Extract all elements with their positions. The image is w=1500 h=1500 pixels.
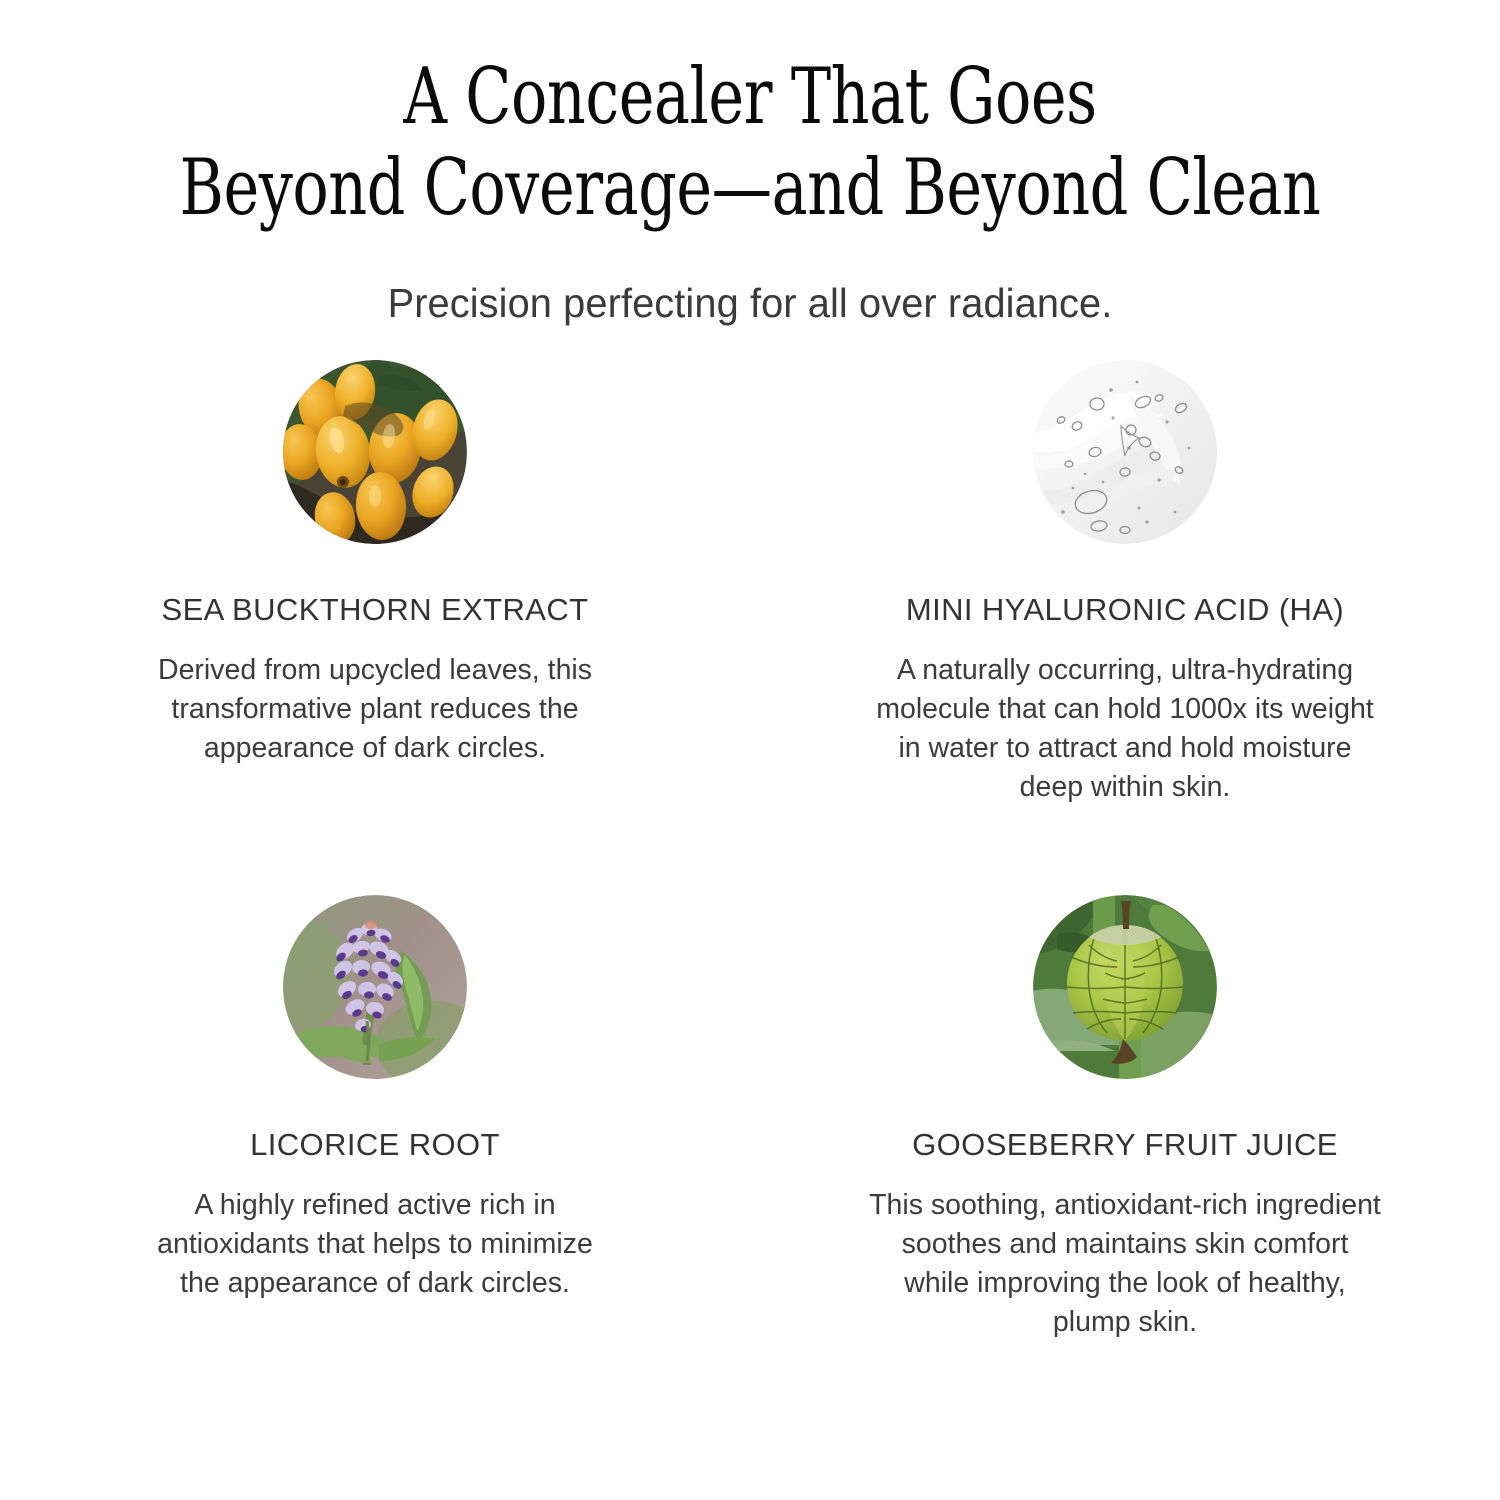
gooseberry-fruit-image [1033,895,1217,1079]
ingredient-grid: SEA BUCKTHORN EXTRACT Derived from upcyc… [0,360,1500,1430]
header: A Concealer That Goes Beyond Coverage—an… [0,0,1500,328]
licorice-root-image [283,895,467,1079]
hyaluronic-acid-gel-image [1033,360,1217,544]
ingredient-title: MINI HYALURONIC ACID (HA) [906,593,1344,627]
page-subtitle: Precision perfecting for all over radian… [23,279,1478,328]
page-title-line-1: A Concealer That Goes [148,52,1352,143]
ingredient-description: A highly refined active rich in antioxid… [157,1186,593,1303]
page-title-line-2: Beyond Coverage—and Beyond Clean [148,143,1352,234]
ingredient-title: LICORICE ROOT [250,1128,500,1162]
ingredient-card-licorice-root: LICORICE ROOT A highly refined active ri… [0,895,750,1430]
ingredient-description: A naturally occurring, ultra-hydrating m… [876,651,1373,807]
ingredient-benefits-infographic: A Concealer That Goes Beyond Coverage—an… [0,0,1500,1500]
sea-buckthorn-image [283,360,467,544]
ingredient-card-gooseberry-fruit-juice: GOOSEBERRY FRUIT JUICE This soothing, an… [750,895,1500,1430]
page-title: A Concealer That Goes Beyond Coverage—an… [148,52,1352,235]
ingredient-description: Derived from upcycled leaves, this trans… [158,651,592,768]
ingredient-description: This soothing, antioxidant-rich ingredie… [869,1186,1381,1342]
ingredient-title: GOOSEBERRY FRUIT JUICE [912,1128,1338,1162]
ingredient-card-sea-buckthorn: SEA BUCKTHORN EXTRACT Derived from upcyc… [0,360,750,895]
ingredient-title: SEA BUCKTHORN EXTRACT [162,593,589,627]
ingredient-card-mini-hyaluronic-acid: MINI HYALURONIC ACID (HA) A naturally oc… [750,360,1500,895]
